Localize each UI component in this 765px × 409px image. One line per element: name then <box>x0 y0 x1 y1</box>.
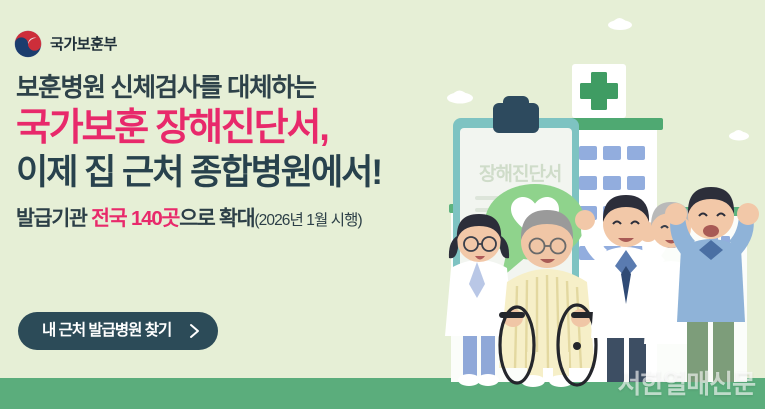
headline-line-3: 이제 집 근처 종합병원에서! <box>16 153 486 192</box>
subline-prefix: 발급기관 <box>16 207 91 230</box>
clipboard-title-text: 장해진단서 <box>479 163 561 185</box>
subline-suffix: 으로 확대 <box>179 207 254 230</box>
headline-line-1: 보훈병원 신체검사를 대체하는 <box>16 74 486 103</box>
subline-note: (2026년 1월 시행) <box>254 212 361 229</box>
find-nearby-hospital-button[interactable]: 내 근처 발급병원 찾기 <box>18 312 218 350</box>
headline-block: 보훈병원 신체검사를 대체하는 국가보훈 장해진단서, 이제 집 근처 종합병원… <box>16 74 486 232</box>
subline: 발급기관 전국 140곳으로 확대(2026년 1월 시행) <box>16 207 486 232</box>
chevron-right-icon <box>189 323 200 339</box>
veterans-disability-certificate-banner: 장해진단서 <box>0 0 765 409</box>
cta-label: 내 근처 발급병원 찾기 <box>42 323 171 339</box>
subline-highlight: 전국 140곳 <box>91 207 179 230</box>
ministry-logo: 국가보훈부 <box>14 30 117 58</box>
taegeuk-icon <box>14 30 42 58</box>
headline-line-2: 국가보훈 장해진단서, <box>16 107 486 150</box>
ministry-name: 국가보훈부 <box>50 37 117 52</box>
